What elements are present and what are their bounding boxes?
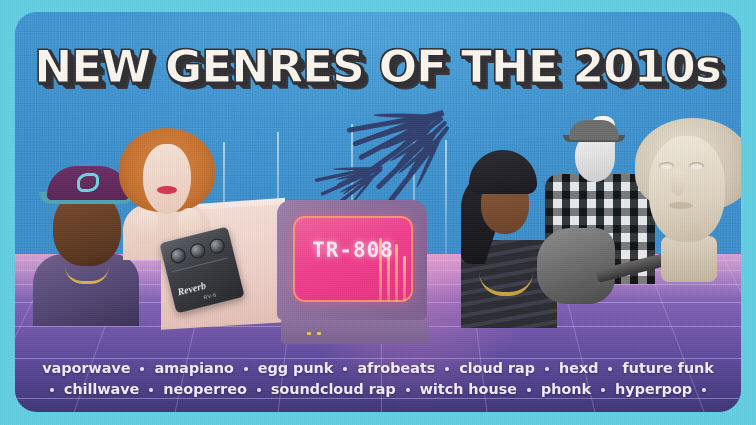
genre-item[interactable]: future funk [622,361,713,377]
genre-separator-dot [527,388,531,392]
genre-separator-dot [149,388,153,392]
genre-separator-dot [601,388,605,392]
genre-separator-dot [608,367,612,371]
genre-item[interactable]: hyperpop [615,382,692,398]
genre-separator-dot [702,388,706,392]
genre-separator-dot [406,388,410,392]
bust-eye-left [659,162,674,170]
black-beanie [469,150,537,194]
power-led [307,332,311,335]
genre-item[interactable]: egg punk [258,361,334,377]
screen-bar [403,256,406,302]
genre-item[interactable]: afrobeats [357,361,435,377]
red-lips [157,186,177,194]
bust-face [649,136,725,242]
genre-row-two: chillwaveneoperreosoundcloud rapwitch ho… [31,382,725,398]
cap-logo [77,173,99,192]
marble-bust [635,118,741,282]
genre-item[interactable]: soundcloud rap [271,382,396,398]
pedal-knob [208,237,226,255]
guitar-body [537,228,615,304]
retro-crt-monitor: TR-808 [277,200,427,320]
genre-row-one: vaporwaveamapianoegg punkafrobeatscloud … [31,361,725,377]
genre-item[interactable]: chillwave [64,382,139,398]
pedal-knob [169,247,187,265]
genre-separator-dot [545,367,549,371]
genre-item[interactable]: phonk [541,382,591,398]
pedal-knob [189,242,207,260]
crt-monitor-base [281,318,429,344]
genre-item[interactable]: amapiano [154,361,233,377]
genre-item[interactable]: vaporwave [42,361,130,377]
bust-mouth [669,202,693,209]
genre-separator-dot [343,367,347,371]
crt-screen-label: TR-808 [293,238,413,262]
pedal-model-label: RV-6 [203,292,217,301]
genre-list: vaporwaveamapianoegg punkafrobeatscloud … [15,361,741,398]
genre-separator-dot [257,388,261,392]
bust-neck [661,236,717,282]
cap [569,120,619,140]
poster-card: TR-808 Reverb RV-6 [15,12,741,412]
bust-eye-right [689,162,704,170]
bust-nose [671,170,685,196]
genre-separator-dot [244,367,248,371]
genre-item[interactable]: hexd [559,361,599,377]
genre-separator-dot [50,388,54,392]
figure-face [143,144,191,214]
genre-item[interactable]: cloud rap [459,361,535,377]
crt-screen: TR-808 [293,216,413,302]
genre-item[interactable]: neoperreo [163,382,247,398]
genre-item[interactable]: witch house [420,382,517,398]
power-led [317,332,321,335]
genre-separator-dot [445,367,449,371]
genre-separator-dot [140,367,144,371]
poster-canvas: TR-808 Reverb RV-6 [0,0,756,425]
